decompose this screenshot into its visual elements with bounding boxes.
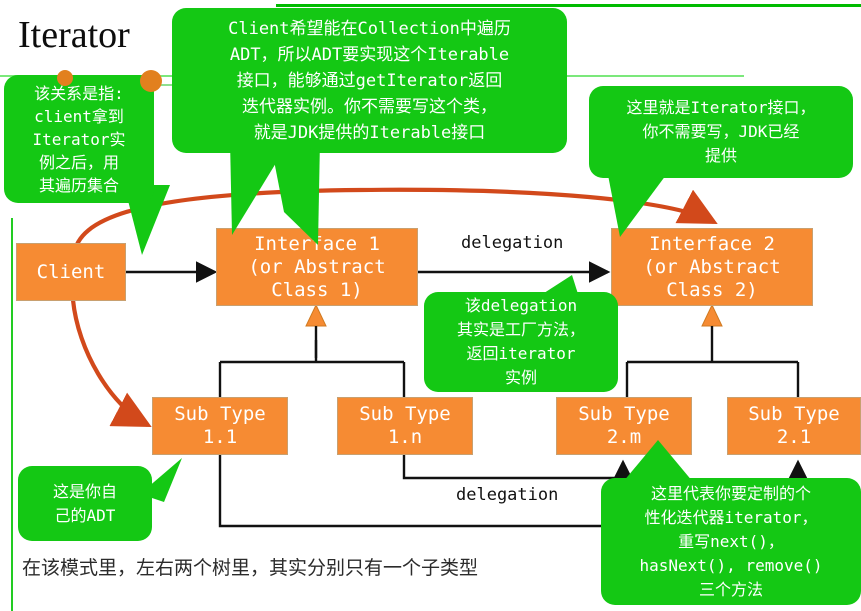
edge-label-delegation-bottom: delegation — [456, 485, 558, 505]
inheritance-left — [220, 305, 404, 397]
callout-anchor-dot-left — [57, 70, 73, 86]
box-subtype-2-1[interactable]: Sub Type 2.1 — [727, 397, 861, 455]
callout-tail-iterator-iface — [596, 175, 716, 275]
callout-iterable-interface[interactable]: Client希望能在Collection中遍历 ADT，所以ADT要实现这个It… — [172, 8, 567, 153]
callout-client-uses-iterator[interactable]: 该关系是指: client拿到 Iterator实 例之后，用 其遍历集合 — [4, 75, 154, 203]
callout-iterator-interface[interactable]: 这里就是Iterator接口， 你不需要写，JDK已经 提供 — [589, 86, 853, 178]
box-client[interactable]: Client — [16, 243, 126, 301]
callout-tail-client-uses — [120, 185, 230, 305]
edge-client-to-subtype11 — [73, 300, 148, 425]
slide-caption: 在该模式里，左右两个树里，其实分别只有一个子类型 — [22, 553, 478, 580]
left-green-rule — [11, 218, 13, 611]
slide-canvas: Iterator — [0, 0, 861, 611]
callout-anchor-dot-right — [140, 70, 162, 92]
edge-subtype1n-to-subtype2m — [404, 455, 623, 478]
callout-custom-iterator[interactable]: 这里代表你要定制的个 性化迭代器iterator， 重写next()， hasN… — [601, 478, 861, 605]
box-subtype-1-n[interactable]: Sub Type 1.n — [337, 397, 473, 455]
callout-your-own-adt[interactable]: 这是你自 己的ADT — [18, 466, 152, 541]
box-subtype-1-1[interactable]: Sub Type 1.1 — [152, 397, 288, 455]
edge-label-delegation-top: delegation — [461, 233, 563, 253]
callout-delegation-factory[interactable]: 该delegation 其实是工厂方法， 返回iterator 实例 — [424, 292, 618, 392]
callout-tail-iterable-2 — [260, 140, 380, 260]
top-green-rule — [276, 4, 861, 7]
inheritance-right — [627, 305, 798, 397]
page-title: Iterator — [18, 16, 130, 54]
